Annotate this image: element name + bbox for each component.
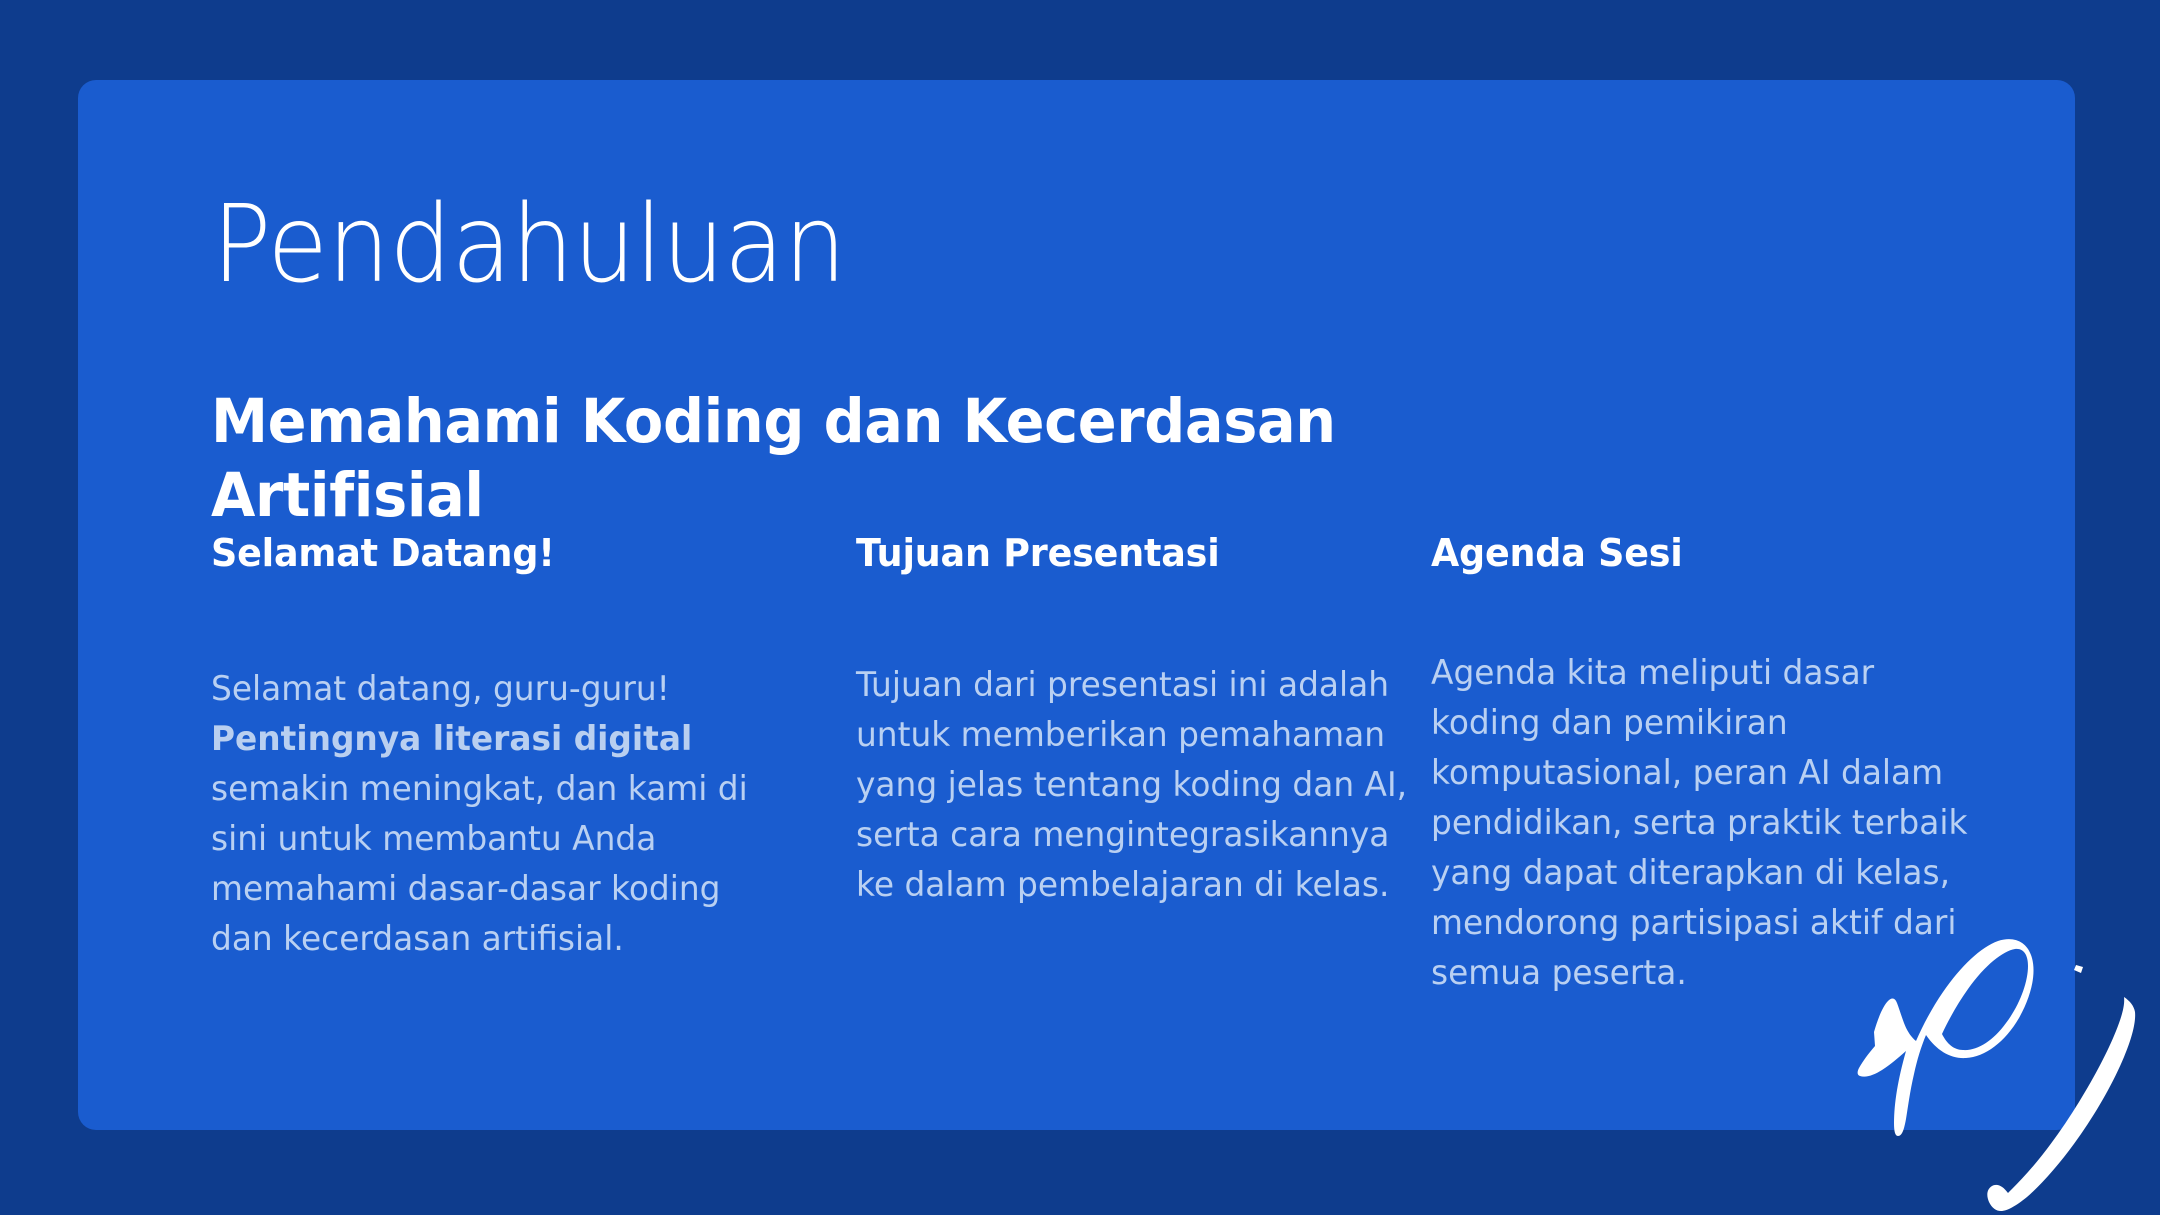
presentation-slide: Pendahuluan Memahami Koding dan Kecerdas… (0, 0, 2160, 1215)
column-body-tujuan-presentasi: Tujuan dari presentasi ini adalah untuk … (856, 660, 1416, 910)
column-heading-agenda-sesi: Agenda Sesi (1431, 530, 1988, 578)
content-columns: Selamat Datang! Selamat datang, guru-gur… (0, 0, 2160, 1215)
column-agenda-sesi: Agenda Sesi Agenda kita meliputi dasar k… (1431, 530, 2011, 998)
body-bold-text: Pentingnya literasi digital (211, 719, 692, 759)
column-heading-selamat-datang: Selamat Datang! (211, 530, 787, 578)
column-body-agenda-sesi: Agenda kita meliputi dasar koding dan pe… (1431, 648, 1986, 998)
column-body-selamat-datang: Selamat datang, guru-guru! Pentingnya li… (211, 664, 785, 964)
column-heading-tujuan-presentasi: Tujuan Presentasi (856, 530, 1413, 578)
column-tujuan-presentasi: Tujuan Presentasi Tujuan dari presentasi… (856, 530, 1436, 910)
body-lead-text: Selamat datang, guru-guru! (211, 669, 680, 709)
column-selamat-datang: Selamat Datang! Selamat datang, guru-gur… (211, 530, 811, 964)
